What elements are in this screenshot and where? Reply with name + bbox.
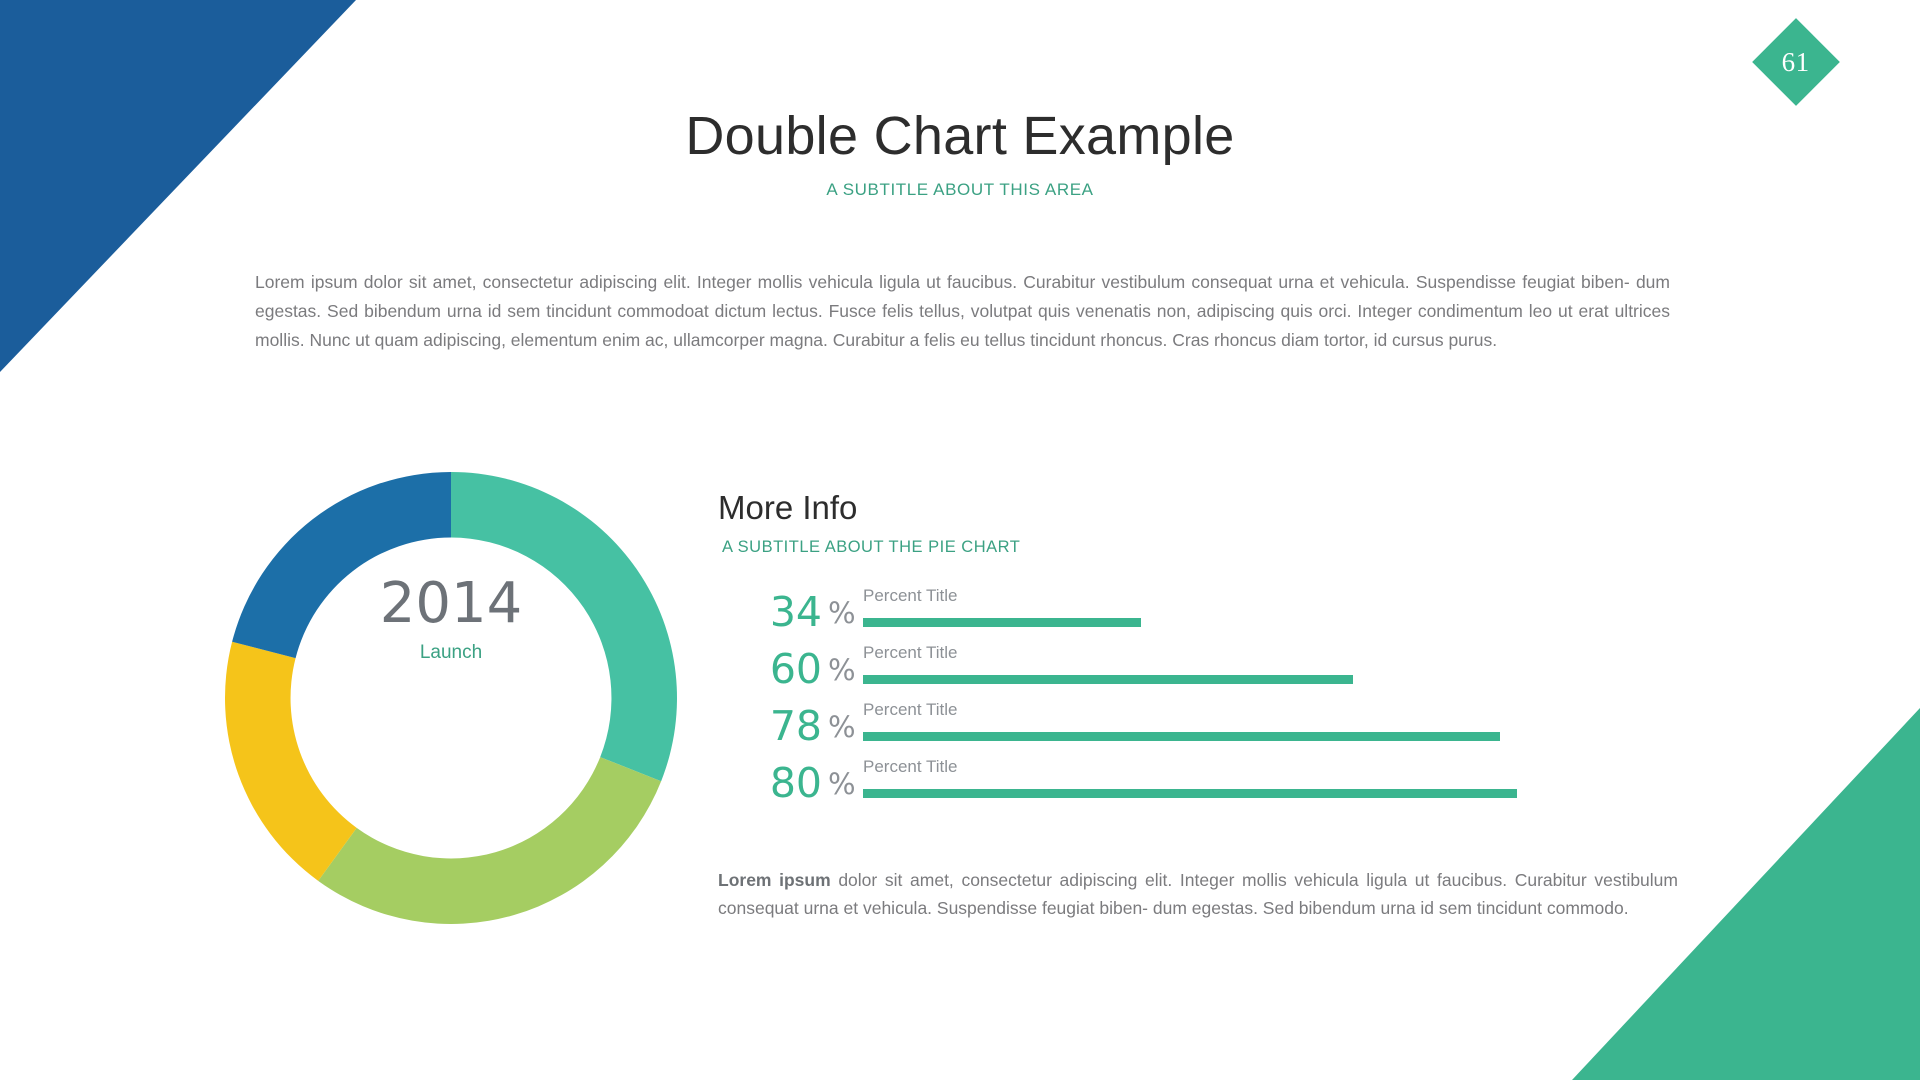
donut-slice [225,642,357,881]
percent-bar-fill [863,618,1141,627]
percent-bar-track [863,732,1680,741]
percent-value: 78 [718,706,822,747]
intro-paragraph: Lorem ipsum dolor sit amet, consectetur … [255,268,1670,355]
donut-chart-svg [225,472,677,924]
donut-slice [318,757,661,924]
donut-center-text: 2014 Launch [225,576,677,664]
percent-symbol: % [828,713,856,742]
percent-symbol: % [828,656,856,685]
percent-row: 34%Percent Title [718,586,1680,643]
percent-title: Percent Title [863,643,958,663]
percent-bar-track [863,789,1680,798]
percent-bar-fill [863,732,1500,741]
donut-center-sublabel: Launch [225,642,677,664]
percent-row: 60%Percent Title [718,643,1680,700]
percent-row: 80%Percent Title [718,757,1680,814]
more-info-subheading: A SUBTITLE ABOUT THE PIE CHART [722,538,1020,557]
donut-center-value: 2014 [225,576,677,632]
percent-symbol: % [828,599,856,628]
percent-bar-track [863,618,1680,627]
percent-value: 60 [718,649,822,690]
percent-bar-list: 34%Percent Title60%Percent Title78%Perce… [718,586,1680,814]
page-subtitle: A SUBTITLE ABOUT THIS AREA [0,180,1920,200]
outro-paragraph: Lorem ipsum dolor sit amet, consectetur … [718,866,1678,922]
percent-value: 80 [718,763,822,804]
outro-lead-text: Lorem ipsum [718,870,831,890]
percent-symbol: % [828,770,856,799]
outro-rest-text: dolor sit amet, consectetur adipiscing e… [718,870,1678,918]
percent-value: 34 [718,592,822,633]
page-title: Double Chart Example [0,105,1920,167]
page-number-label: 61 [1782,47,1810,78]
percent-bar-fill [863,789,1517,798]
slide-canvas: 61 Double Chart Example A SUBTITLE ABOUT… [0,0,1920,1080]
percent-row: 78%Percent Title [718,700,1680,757]
percent-bar-track [863,675,1680,684]
percent-title: Percent Title [863,586,958,606]
percent-bar-fill [863,675,1353,684]
percent-title: Percent Title [863,757,958,777]
donut-chart: 2014 Launch [225,472,677,924]
more-info-heading: More Info [718,489,857,527]
percent-title: Percent Title [863,700,958,720]
page-number-badge: 61 [1752,18,1840,106]
